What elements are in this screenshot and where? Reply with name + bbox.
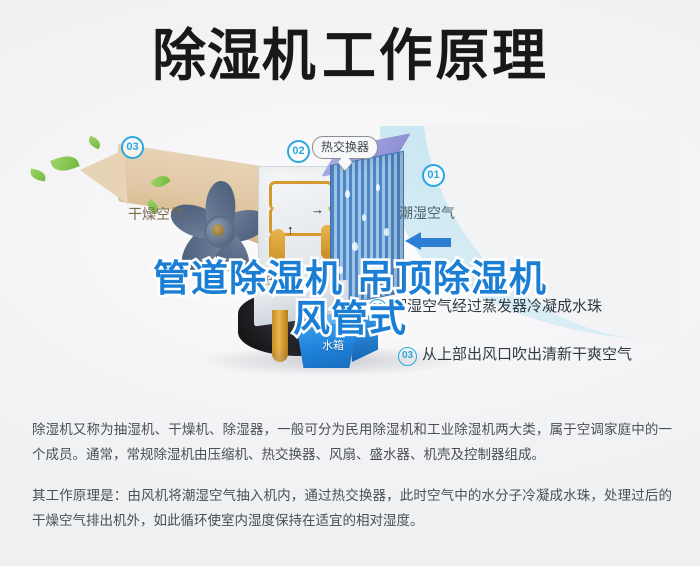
- water-droplet: [345, 190, 350, 198]
- label-humid-air: 潮湿空气: [399, 207, 455, 222]
- badge-03-dry-air: 03: [121, 136, 144, 159]
- badge-01-humid-air: 01: [422, 164, 445, 187]
- body-paragraph-2: 其工作原理是：由风机将潮湿空气抽入机内，通过热交换器，此时空气中的水分子冷凝成水…: [32, 484, 672, 534]
- page-title-part1: 除湿机: [152, 24, 316, 89]
- humid-air-inlet-arrow-icon: [405, 236, 451, 249]
- body-paragraph-1: 除湿机又称为抽湿机、干燥机、除湿器，一般可分为民用除湿机和工业除湿机两大类，属于…: [32, 418, 672, 468]
- statement-03-badge: 03: [398, 347, 417, 366]
- refrigerant-vessel: [271, 229, 285, 269]
- dry-air-arrow-head: [78, 146, 128, 205]
- statement-02: 02潮湿空气经过蒸发器冷凝成水珠: [368, 297, 602, 318]
- page-title-text: 除湿机工作原理: [152, 26, 548, 88]
- fan-hub-center: [212, 224, 224, 236]
- statement-02-badge: 02: [368, 299, 387, 318]
- label-dry-air: 干燥空气: [128, 208, 184, 223]
- flow-arrow-up-icon: ↑: [287, 223, 294, 236]
- water-droplet: [362, 214, 366, 221]
- callout-heat-exchanger: 热交换器: [312, 136, 378, 159]
- page-root: 除湿机工作原理: [0, 0, 700, 566]
- water-tank-graphic: 水箱: [292, 314, 380, 376]
- leaf-icon: [50, 152, 80, 175]
- statement-02-text: 潮湿空气经过蒸发器冷凝成水珠: [392, 297, 602, 315]
- body-copy: 除湿机又称为抽湿机、干燥机、除湿器，一般可分为民用除湿机和工业除湿机两大类，属于…: [32, 418, 672, 534]
- badge-02-heat-exchanger: 02: [287, 140, 310, 163]
- water-droplet: [370, 268, 376, 277]
- water-tank-label: 水箱: [322, 340, 344, 352]
- flow-arrow-right-icon: →: [311, 203, 324, 216]
- statement-03-text: 从上部出风口吹出清新干爽空气: [422, 345, 632, 363]
- page-title-part2: 工作原理: [322, 24, 549, 89]
- water-droplet: [338, 266, 343, 274]
- label-compressor: 压缩机: [266, 274, 296, 289]
- water-droplet: [384, 228, 389, 236]
- statement-03: 03从上部出风口吹出清新干爽空气: [398, 345, 632, 366]
- water-droplet: [376, 184, 380, 191]
- leaf-icon: [29, 168, 47, 181]
- water-droplet: [352, 242, 358, 251]
- page-title: 除湿机工作原理: [0, 26, 700, 88]
- callout-heat-exchanger-text: 热交换器: [321, 140, 369, 154]
